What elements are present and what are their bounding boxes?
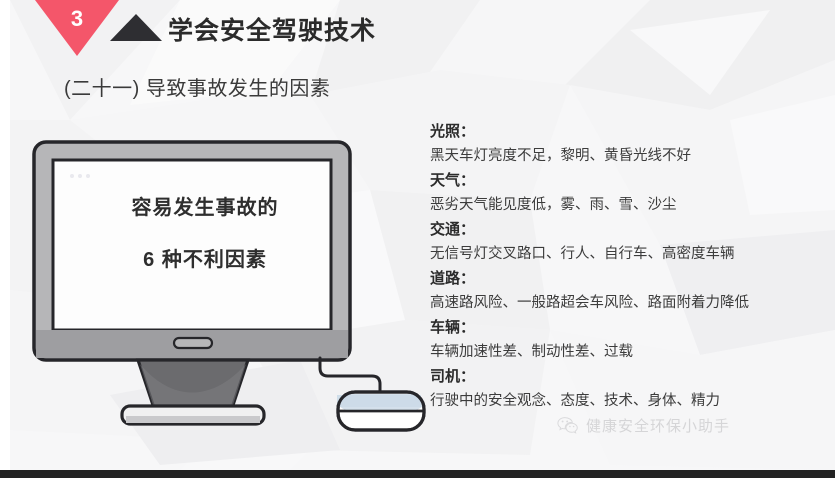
- factor-label: 车辆：: [430, 316, 830, 340]
- chapter-number: 3: [35, 5, 119, 33]
- footer-bar: [0, 470, 835, 478]
- factor-item-driver: 司机： 行驶中的安全观念、态度、技术、身体、精力: [430, 365, 830, 414]
- factor-item-road: 道路： 高速路风险、一般路超会车风险、路面附着力降低: [430, 267, 830, 316]
- factor-list: 光照： 黑天车灯亮度不足，黎明、黄昏光线不好 天气： 恶劣天气能见度低，雾、雨、…: [430, 120, 830, 414]
- factor-description: 无信号灯交叉路口、行人、自行车、高密度车辆: [430, 242, 830, 267]
- factor-label: 天气：: [430, 169, 830, 193]
- mouse-cable: [320, 358, 380, 394]
- left-white-margin: [0, 0, 10, 470]
- factor-label: 司机：: [430, 365, 830, 389]
- monitor-body: [34, 142, 350, 360]
- factor-description: 车辆加速性差、制动性差、过载: [430, 340, 830, 365]
- monitor-stand: [122, 360, 264, 424]
- factor-item-vehicle: 车辆： 车辆加速性差、制动性差、过载: [430, 316, 830, 365]
- factor-label: 光照：: [430, 120, 830, 144]
- triangle-marker-icon: [110, 14, 162, 41]
- factor-item-weather: 天气： 恶劣天气能见度低，雾、雨、雪、沙尘: [430, 169, 830, 218]
- section-title: (二十一) 导致事故发生的因素: [64, 72, 330, 101]
- slide-header: 3 学会安全驾驶技术: [10, 0, 835, 60]
- factor-description: 行驶中的安全观念、态度、技术、身体、精力: [430, 389, 830, 414]
- watermark: 健康安全环保小助手: [557, 415, 730, 436]
- factor-item-traffic: 交通： 无信号灯交叉路口、行人、自行车、高密度车辆: [430, 218, 830, 267]
- factor-description: 恶劣天气能见度低，雾、雨、雪、沙尘: [430, 193, 830, 218]
- factor-item-lighting: 光照： 黑天车灯亮度不足，黎明、黄昏光线不好: [430, 120, 830, 169]
- monitor-illustration: [20, 132, 430, 432]
- page-title: 学会安全驾驶技术: [168, 11, 376, 47]
- slide-canvas: 3 学会安全驾驶技术 (二十一) 导致事故发生的因素: [0, 0, 835, 478]
- factor-description: 高速路风险、一般路超会车风险、路面附着力降低: [430, 291, 830, 316]
- factor-label: 交通：: [430, 218, 830, 242]
- factor-label: 道路：: [430, 267, 830, 291]
- watermark-text: 健康安全环保小助手: [586, 415, 730, 436]
- mouse: [337, 392, 424, 430]
- factor-description: 黑天车灯亮度不足，黎明、黄昏光线不好: [430, 144, 830, 169]
- wechat-icon: [557, 416, 579, 435]
